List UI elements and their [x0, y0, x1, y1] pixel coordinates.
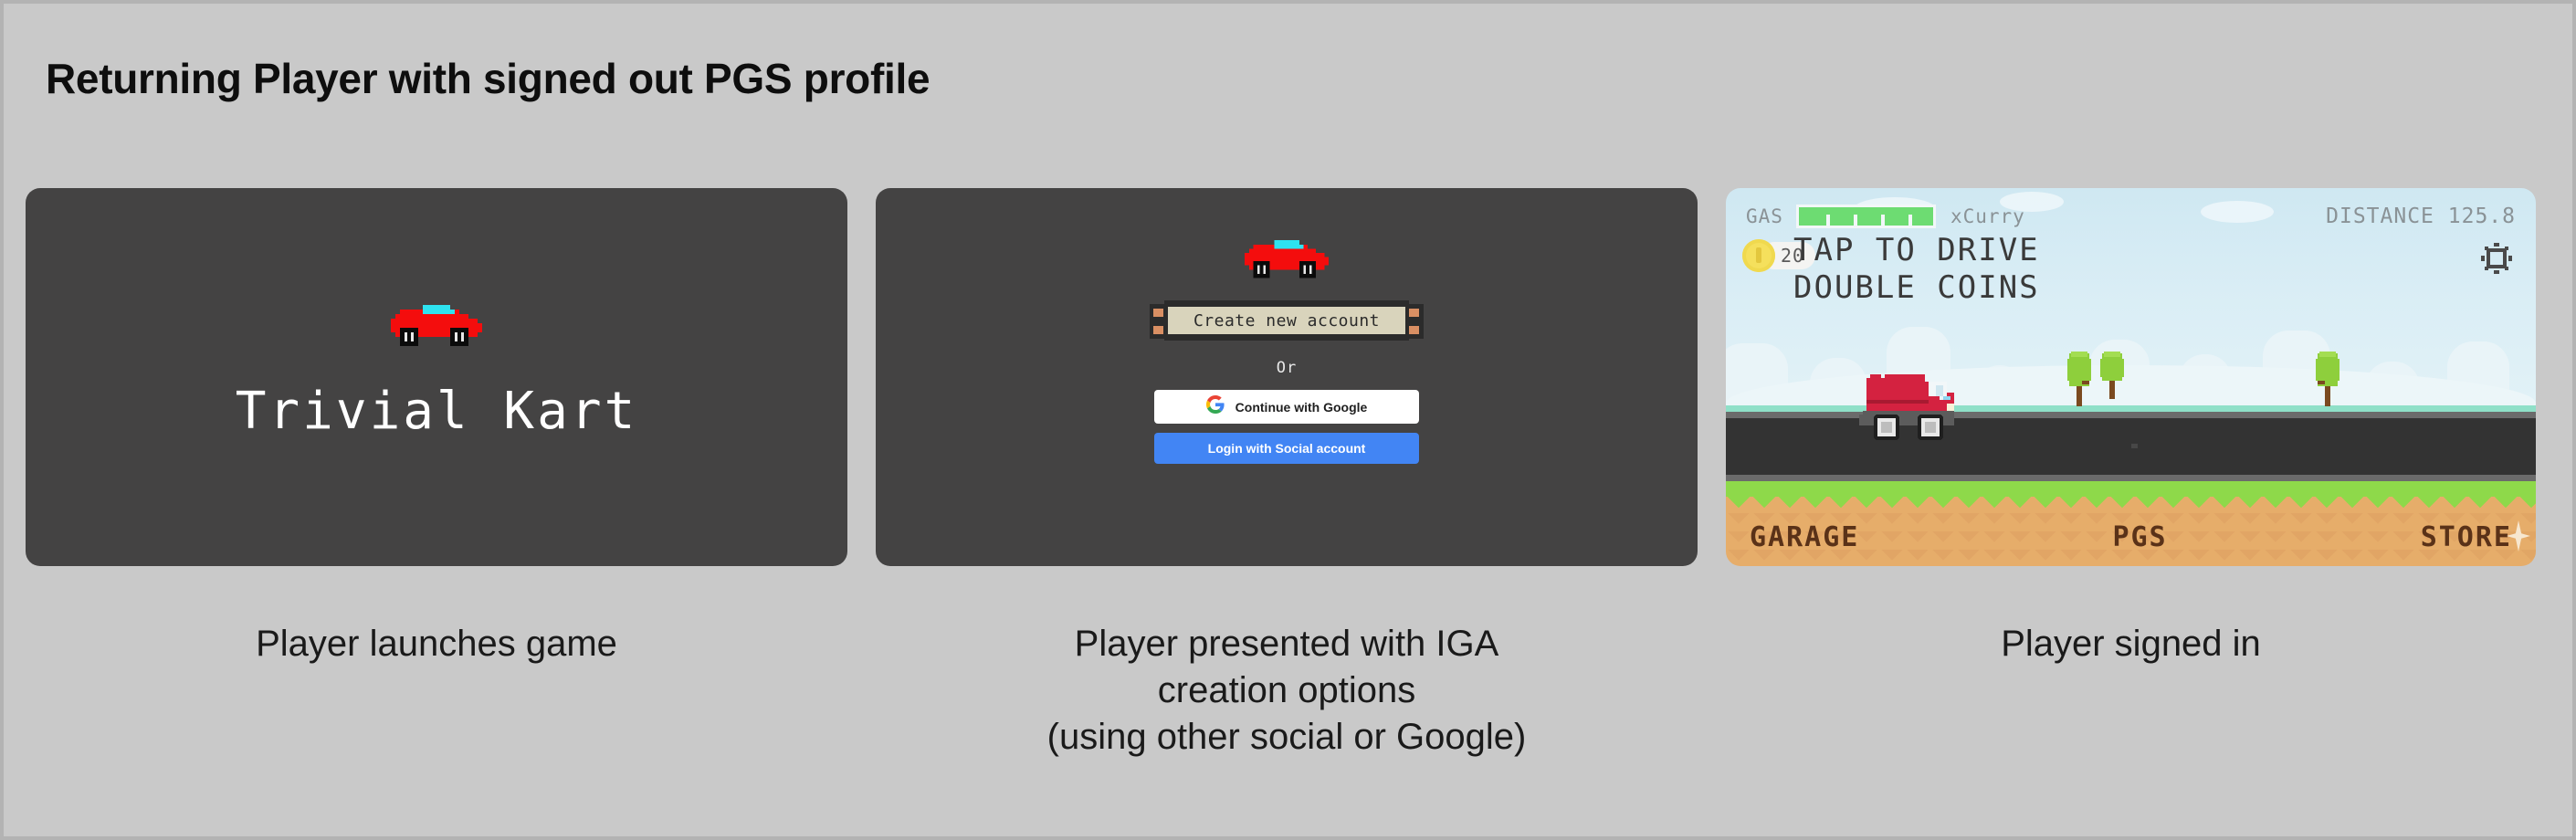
bottom-navigation: GARAGE PGS STORE [1726, 521, 2536, 553]
player-username: xCurry [1950, 205, 2025, 227]
car-sprite-icon [1236, 232, 1337, 282]
or-divider-label: Or [1277, 359, 1297, 377]
page-title: Returning Player with signed out PGS pro… [46, 54, 930, 103]
caption-panel-1: Player launches game [26, 621, 847, 667]
distance-readout: DISTANCE 125.8 [2326, 205, 2516, 228]
login-with-social-account-button[interactable]: Login with Social account [1154, 433, 1419, 464]
nav-item-store[interactable]: STORE [2421, 521, 2512, 553]
gear-icon[interactable] [2481, 243, 2512, 274]
gas-label: GAS [1746, 205, 1783, 227]
promo-headline: TAP TO DRIVE DOUBLE COINS [1793, 232, 2040, 308]
player-truck-sprite [1852, 367, 2009, 452]
horizon-strip [1726, 405, 2536, 412]
road-edge-bottom [1726, 475, 2536, 481]
road-surface [1726, 418, 2536, 475]
login-with-social-label: Login with Social account [1208, 441, 1366, 456]
car-sprite-icon [382, 296, 491, 351]
road-edge-top [1726, 412, 2536, 418]
game-title: Trivial Kart [236, 382, 638, 441]
tree-icon [2310, 350, 2345, 411]
caption-panel-3: Player signed in [1726, 621, 2536, 667]
panel-iga-options[interactable]: Create new account Or Continue with Goog… [876, 188, 1698, 566]
tree-icon [2062, 350, 2097, 411]
promo-headline-line-1: TAP TO DRIVE [1793, 232, 2040, 269]
create-new-account-button[interactable]: Create new account [1150, 295, 1424, 346]
hud-top-row: GAS xCurry DISTANCE 125.8 [1746, 205, 2516, 228]
continue-with-google-label: Continue with Google [1235, 400, 1368, 415]
road-marking [2131, 444, 2138, 448]
button-bracket-left [1150, 304, 1168, 339]
coin-icon [1742, 239, 1775, 272]
slide-canvas: Returning Player with signed out PGS pro… [0, 0, 2576, 840]
continue-with-google-button[interactable]: Continue with Google [1154, 390, 1419, 424]
tree-icon [2097, 350, 2128, 404]
caption-panel-2: Player presented with IGA creation optio… [876, 621, 1698, 761]
nav-item-garage[interactable]: GARAGE [1750, 521, 1859, 553]
iga-content: Create new account Or Continue with Goog… [1095, 232, 1478, 464]
city-skyline [1726, 301, 2536, 411]
gas-meter [1796, 205, 1936, 228]
nav-item-pgs[interactable]: PGS [2112, 521, 2167, 553]
promo-headline-line-2: DOUBLE COINS [1793, 269, 2040, 307]
create-new-account-label: Create new account [1193, 311, 1380, 331]
panel-signed-in-game[interactable]: GAS xCurry DISTANCE 125.8 20 TAP TO DRIV… [1726, 188, 2536, 566]
splash-content: Trivial Kart [26, 296, 847, 441]
google-g-icon [1206, 395, 1225, 418]
button-bracket-right [1405, 304, 1424, 339]
panel-launch-screen[interactable]: Trivial Kart [26, 188, 847, 566]
